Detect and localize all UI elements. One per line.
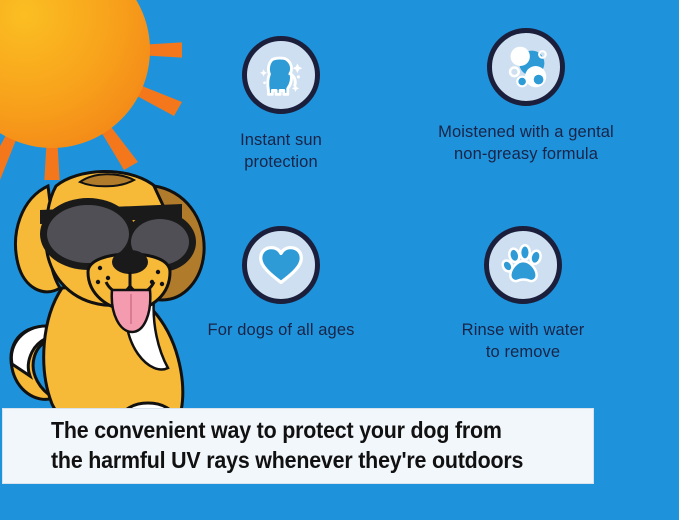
- dog-silhouette-sparkle-icon: [252, 46, 310, 104]
- banner-line-1: The convenient way to protect your dog f…: [51, 416, 555, 446]
- banner-line-2: the harmful UV rays whenever they're out…: [51, 446, 555, 476]
- feature-label: Rinse with water to remove: [430, 320, 616, 364]
- bottom-banner: The convenient way to protect your dog f…: [2, 408, 594, 484]
- product-feature-poster: Instant sun protection Moistened with a …: [0, 0, 679, 520]
- feature-badge: [487, 28, 565, 106]
- heart-icon: [252, 236, 310, 294]
- dog-svg: [2, 168, 228, 428]
- feature-label: For dogs of all ages: [196, 320, 366, 342]
- feature-instant-sun: Instant sun protection: [196, 36, 366, 174]
- feature-badge: [242, 36, 320, 114]
- bubbles-icon: [497, 38, 555, 96]
- feature-all-ages: For dogs of all ages: [196, 226, 366, 342]
- feature-moistened: Moistened with a gental non-greasy formu…: [420, 28, 632, 166]
- feature-label: Moistened with a gental non-greasy formu…: [420, 122, 632, 166]
- feature-badge: [484, 226, 562, 304]
- feature-rinse: Rinse with water to remove: [430, 226, 616, 364]
- sun-illustration: [0, 0, 182, 180]
- dog-nose: [112, 250, 148, 274]
- feature-label: Instant sun protection: [196, 130, 366, 174]
- dog-illustration: [2, 168, 228, 428]
- paw-print-icon: [494, 236, 552, 294]
- feature-badge: [242, 226, 320, 304]
